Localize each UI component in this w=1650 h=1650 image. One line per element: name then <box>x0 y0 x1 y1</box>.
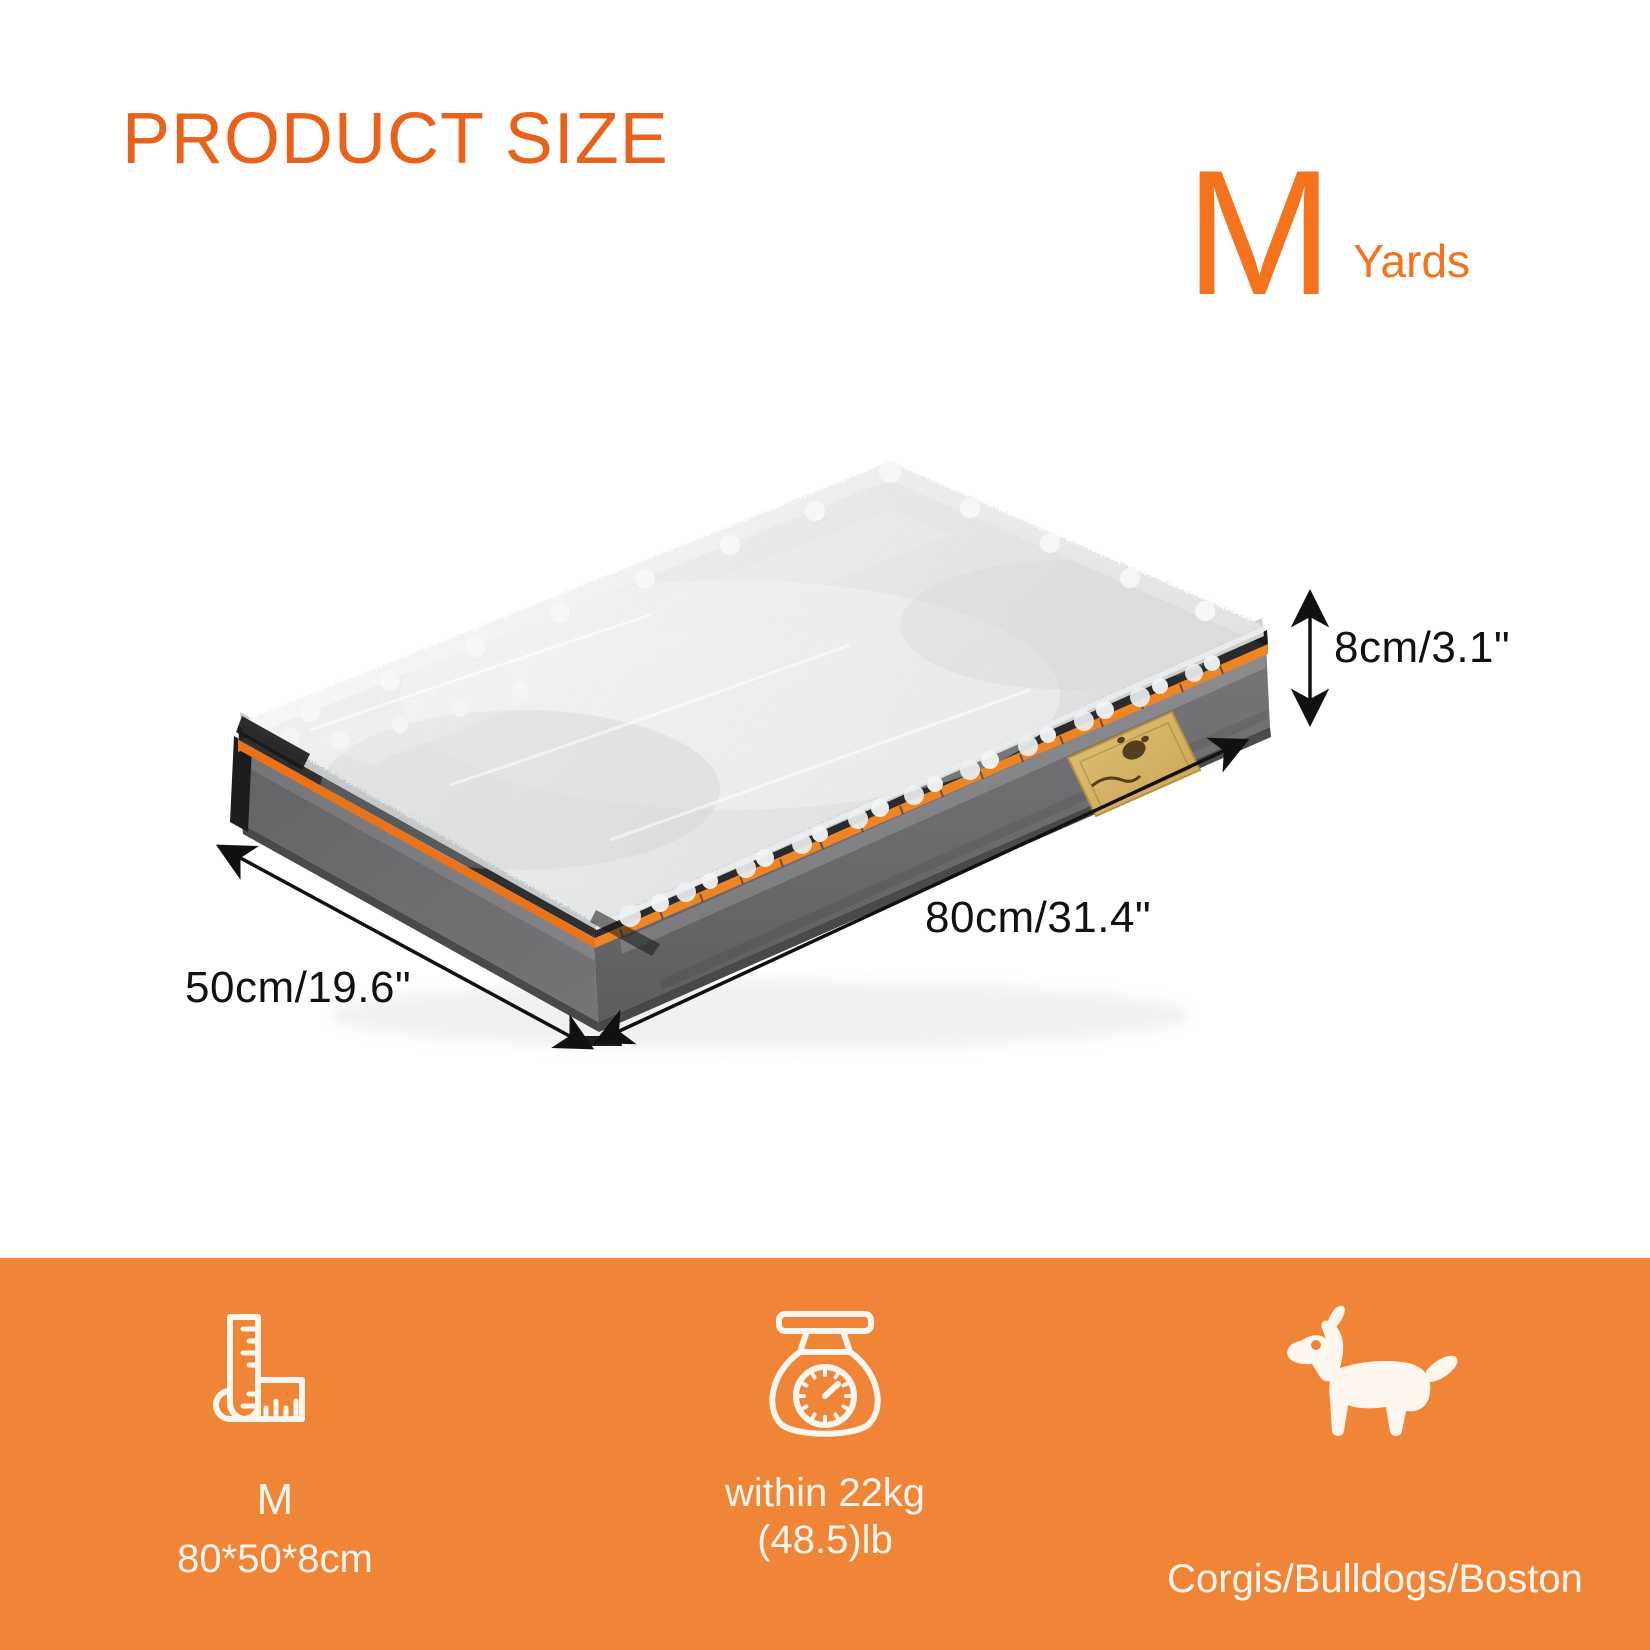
dimension-width-label: 80cm/31.4" <box>925 893 1151 943</box>
feature-weight: within 22kg (48.5)lb <box>550 1258 1100 1564</box>
dimension-height-label: 8cm/3.1" <box>1334 623 1510 673</box>
feature-weight-line1: within 22kg <box>725 1470 925 1517</box>
brand-logo: M Yards <box>1185 160 1470 306</box>
dimension-depth-label: 50cm/19.6" <box>185 963 411 1013</box>
scale-icon <box>745 1280 905 1460</box>
ruler-icon <box>200 1280 350 1460</box>
feature-breeds: Corgis/Bulldogs/Boston <box>1100 1258 1650 1603</box>
page-title: PRODUCT SIZE <box>122 103 669 175</box>
feature-size-line1: M <box>257 1474 294 1526</box>
brand-letter-m: M <box>1185 160 1331 306</box>
feature-banner: M 80*50*8cm <box>0 1258 1650 1650</box>
dog-icon <box>1280 1280 1470 1460</box>
feature-weight-line2: (48.5)lb <box>757 1517 893 1564</box>
brand-name-label: Yards <box>1353 238 1470 284</box>
feature-size-line2: 80*50*8cm <box>177 1536 373 1583</box>
infographic-canvas: PRODUCT SIZE M Yards <box>0 0 1650 1650</box>
feature-breeds-line1: Corgis/Bulldogs/Boston <box>1167 1556 1583 1603</box>
feature-size: M 80*50*8cm <box>0 1258 550 1583</box>
